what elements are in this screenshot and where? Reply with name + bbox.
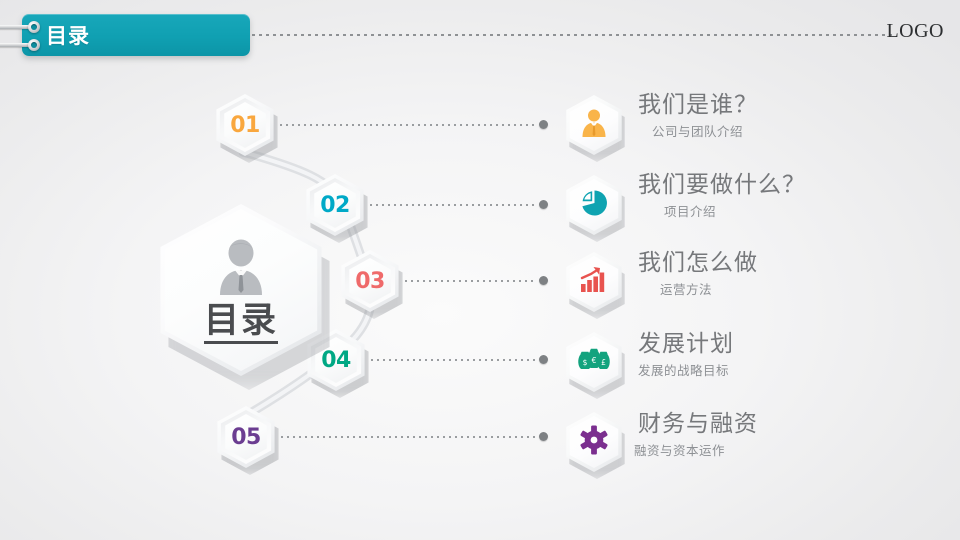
money-bags-icon: $ € £ [577, 347, 611, 378]
item-icon-hex-02[interactable] [562, 175, 626, 235]
step-number-label: 01 [230, 113, 260, 138]
item-text-01: 我们是谁？ 公司与团队介绍 [638, 92, 758, 140]
step-number-01[interactable]: 01 [212, 94, 278, 156]
item-title: 我们是谁？ [638, 92, 758, 117]
item-subtitle: 项目介绍 [664, 201, 806, 220]
svg-text:£: £ [601, 358, 606, 367]
item-subtitle: 公司与团队介绍 [652, 121, 758, 140]
item-icon-hex-04[interactable]: $ € £ [562, 332, 626, 392]
connector-dots-01 [280, 120, 548, 130]
person-user-icon [579, 108, 609, 143]
step-number-03[interactable]: 03 [337, 250, 403, 312]
center-node-contents: 目录 [148, 204, 334, 376]
pie-chart-icon [579, 188, 609, 223]
connector-dots-03 [405, 276, 548, 286]
item-subtitle: 运营方法 [660, 279, 758, 298]
connector-dots-05 [281, 432, 548, 442]
item-subtitle: 发展的战略目标 [638, 360, 734, 379]
item-subtitle: 融资与资本运作 [634, 440, 758, 459]
item-title: 我们要做什么？ [638, 172, 806, 197]
bar-chart-growth-icon [579, 266, 609, 299]
svg-text:$: $ [583, 358, 588, 367]
binder-ring-icon [0, 22, 50, 32]
item-icon-hex-03[interactable] [562, 252, 626, 312]
binder-ring-icon [0, 40, 50, 50]
gear-settings-icon [579, 425, 609, 460]
item-text-05: 财务与融资 融资与资本运作 [638, 411, 758, 459]
svg-text:€: € [592, 356, 597, 365]
item-icon-hex-05[interactable] [562, 412, 626, 472]
item-title: 我们怎么做 [638, 250, 758, 275]
step-number-label: 05 [231, 425, 261, 450]
slide-title-bar: 目录 [22, 14, 250, 56]
businessman-person-icon [210, 238, 272, 301]
center-label: 目录 [204, 303, 278, 344]
connector-arc [0, 0, 960, 540]
item-text-03: 我们怎么做 运营方法 [638, 250, 758, 298]
item-icon-hex-01[interactable] [562, 95, 626, 155]
page-title: 目录 [46, 20, 90, 50]
item-text-02: 我们要做什么？ 项目介绍 [638, 172, 806, 220]
step-number-label: 03 [355, 269, 385, 294]
step-number-05[interactable]: 05 [213, 406, 279, 468]
item-title: 发展计划 [638, 331, 734, 356]
connector-dots-02 [370, 200, 548, 210]
connector-dots-04 [371, 355, 548, 365]
item-text-04: 发展计划 发展的战略目标 [638, 331, 734, 379]
item-title: 财务与融资 [638, 411, 758, 436]
